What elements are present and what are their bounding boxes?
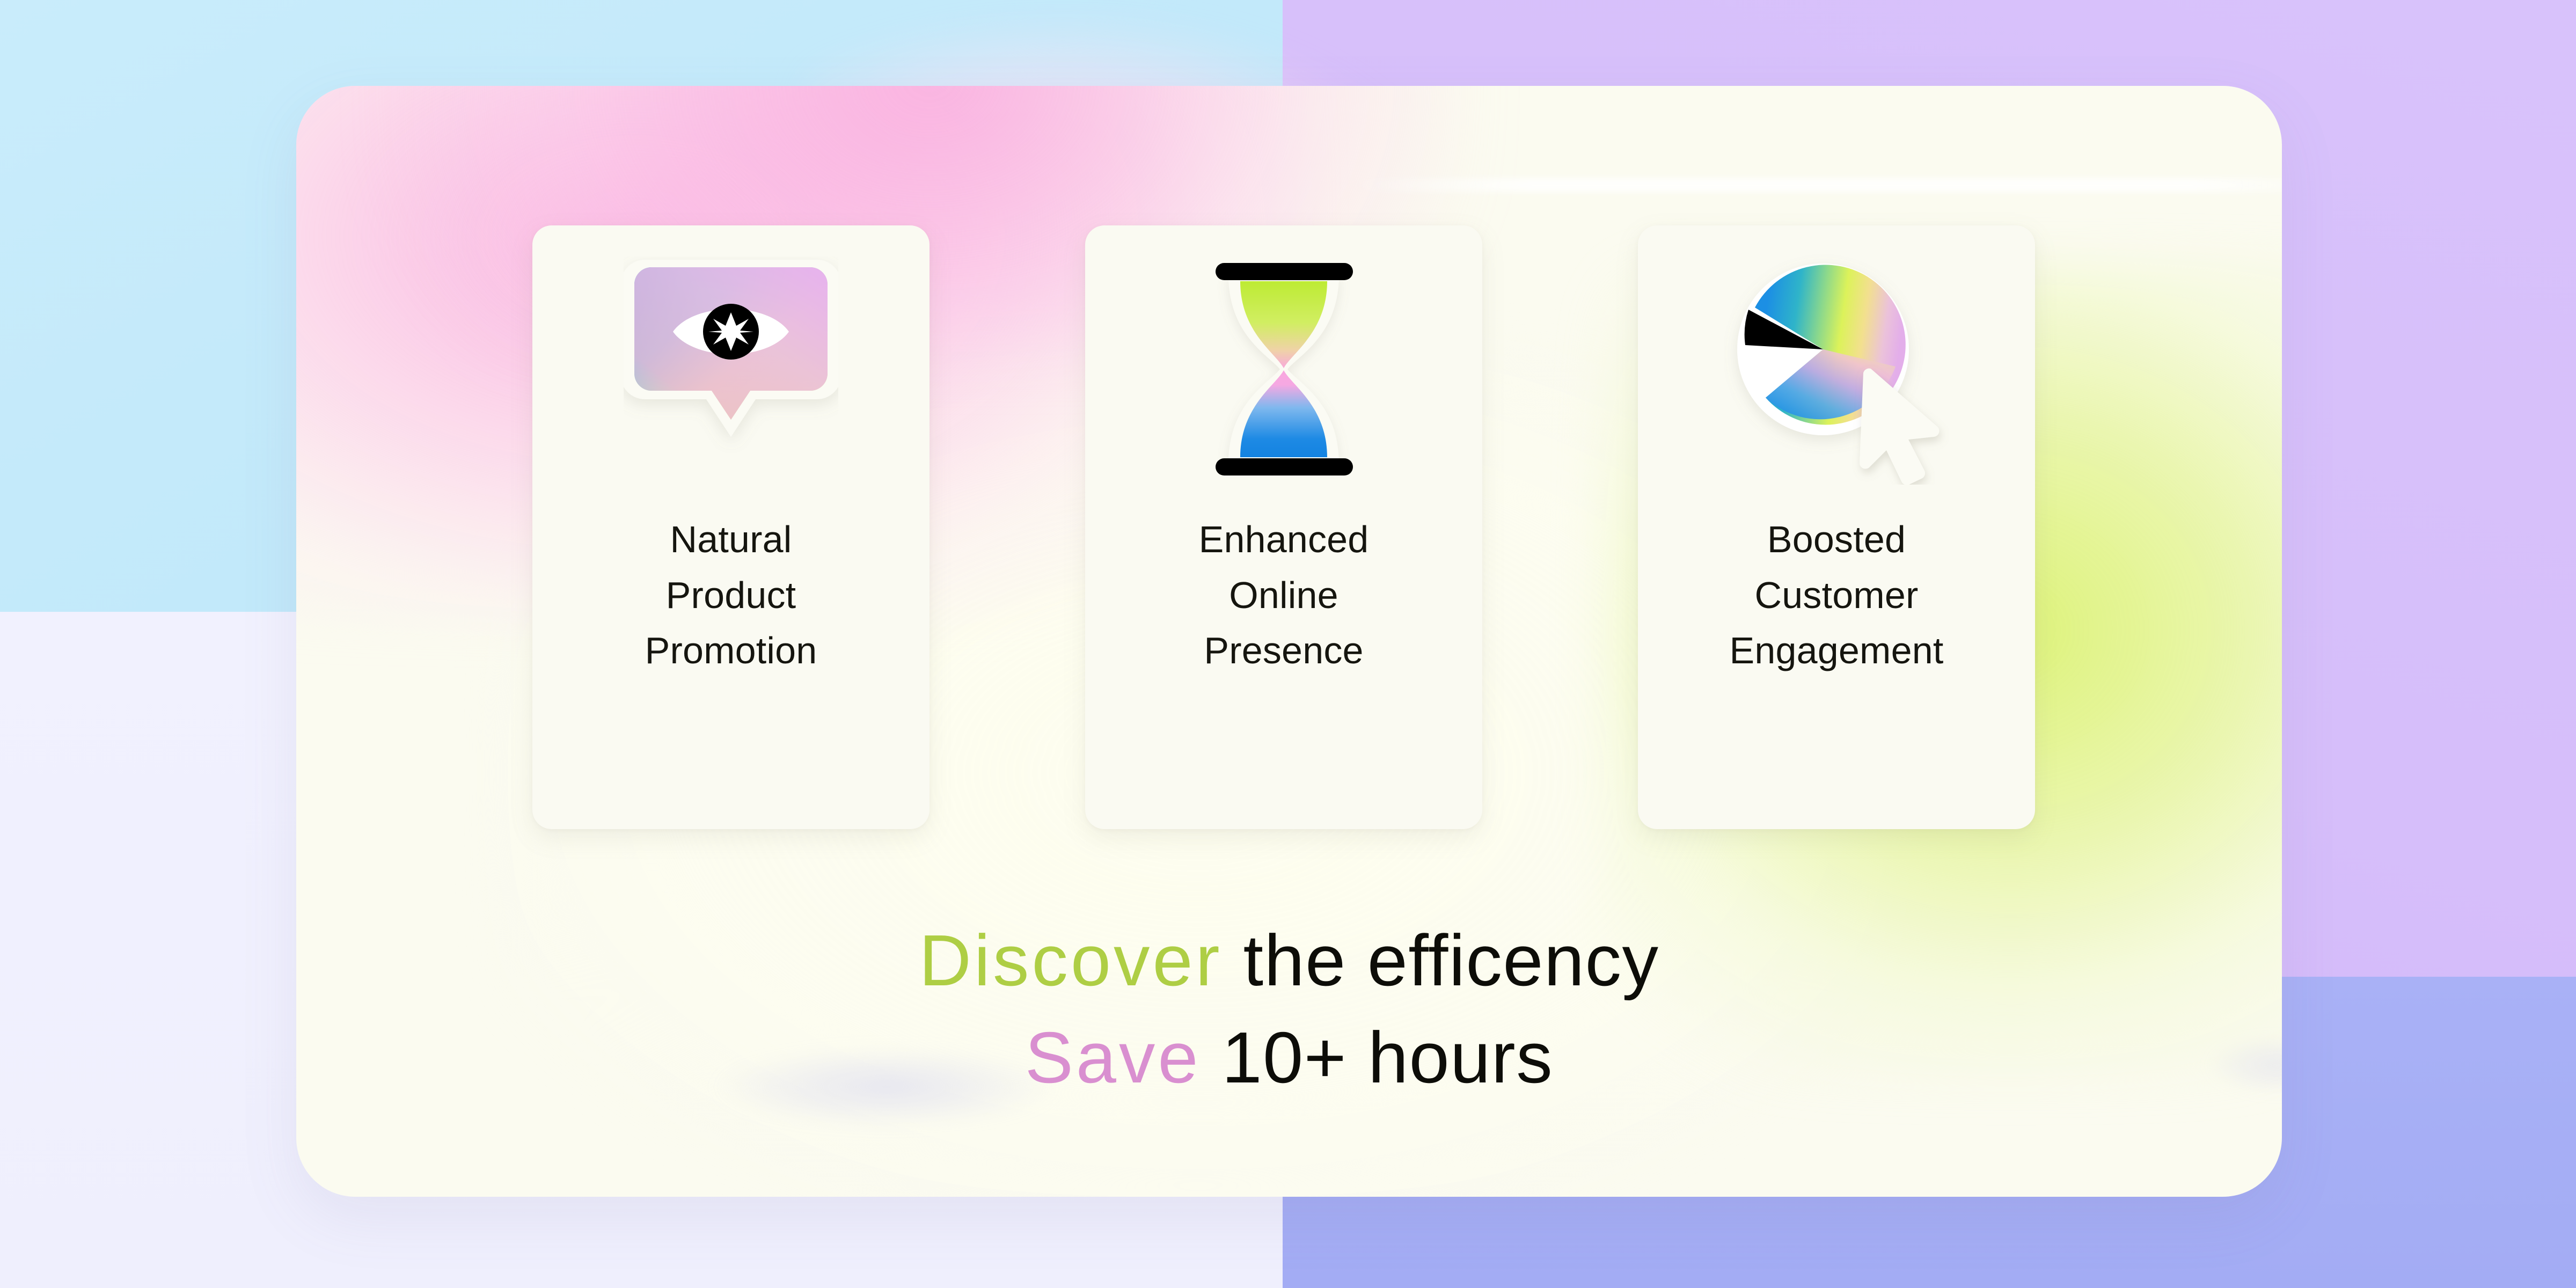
feature-card[interactable]: Boosted Customer Engagement [1638,225,2035,829]
eye-speech-bubble-icon [608,235,854,503]
main-panel: Natural Product Promotion [296,86,2282,1197]
pie-chart-cursor-icon [1713,235,1960,503]
feature-card-label: Boosted Customer Engagement [1730,512,1944,679]
headline-accent-save: Save [1025,1017,1201,1098]
feature-card-label: Enhanced Online Presence [1199,512,1369,679]
promo-banner: Natural Product Promotion [0,0,2576,1288]
headline-rest-2: 10+ hours [1201,1017,1554,1098]
feature-card[interactable]: Enhanced Online Presence [1085,225,1482,829]
feature-card-label: Natural Product Promotion [645,512,817,679]
headline-accent-discover: Discover [919,920,1222,1001]
hourglass-icon [1160,235,1407,503]
headline-line-2: Save 10+ hours [296,1009,2282,1107]
feature-card[interactable]: Natural Product Promotion [532,225,930,829]
headline: Discover the efficency Save 10+ hours [296,912,2282,1107]
headline-line-1: Discover the efficency [296,912,2282,1009]
headline-rest-1: the efficency [1223,920,1659,1001]
